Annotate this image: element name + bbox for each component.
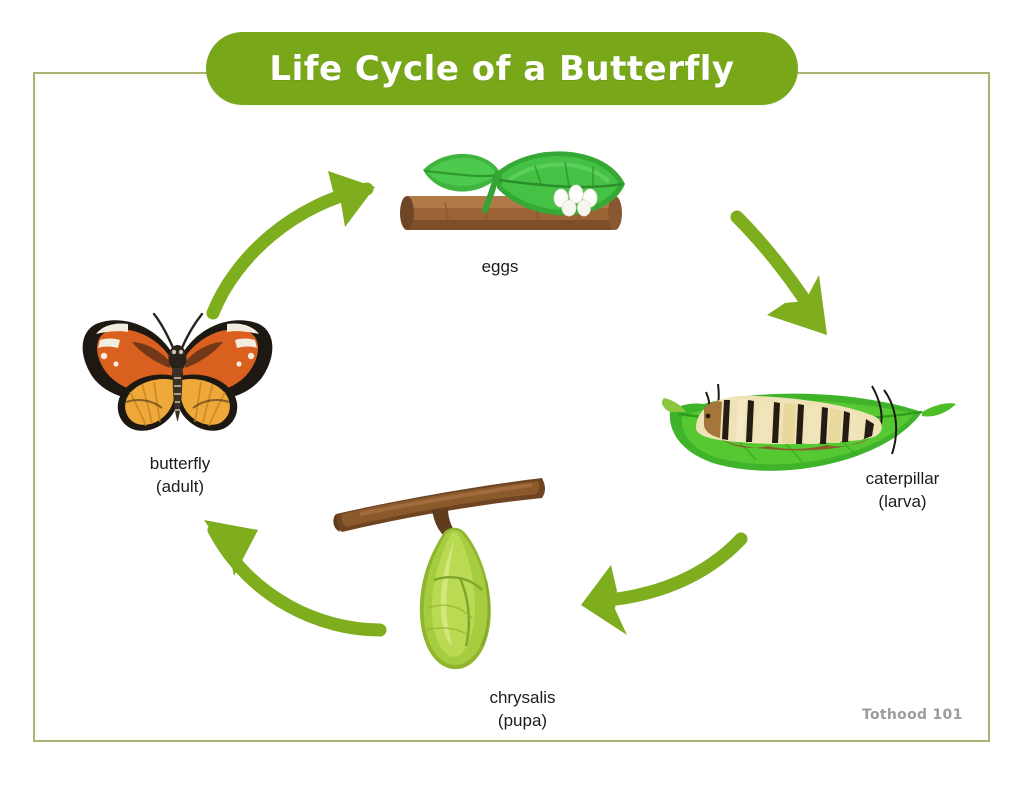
arrow-caterpillar-to-chrysalis <box>555 535 745 660</box>
right-wing-shape <box>176 320 272 431</box>
small-leaf-shape <box>423 154 501 192</box>
life-cycle-poster: Life Cycle of a Butterfly <box>0 0 1024 791</box>
stage-art-chrysalis <box>330 470 580 685</box>
left-wing-shape <box>83 320 179 431</box>
stage-art-butterfly <box>70 298 285 443</box>
title-banner: Life Cycle of a Butterfly <box>206 32 798 105</box>
arrow-eggs-to-caterpillar <box>735 205 865 355</box>
page-title: Life Cycle of a Butterfly <box>269 49 734 89</box>
chrysalis-shape <box>420 528 491 669</box>
watermark: Tothood 101 <box>862 707 963 723</box>
stage-label-butterfly: butterfly (adult) <box>85 452 275 498</box>
stage-art-eggs <box>385 128 655 253</box>
stage-label-eggs: eggs <box>405 255 595 278</box>
stage-label-chrysalis: chrysalis (pupa) <box>420 686 625 732</box>
stage-label-caterpillar: caterpillar (larva) <box>820 467 985 513</box>
